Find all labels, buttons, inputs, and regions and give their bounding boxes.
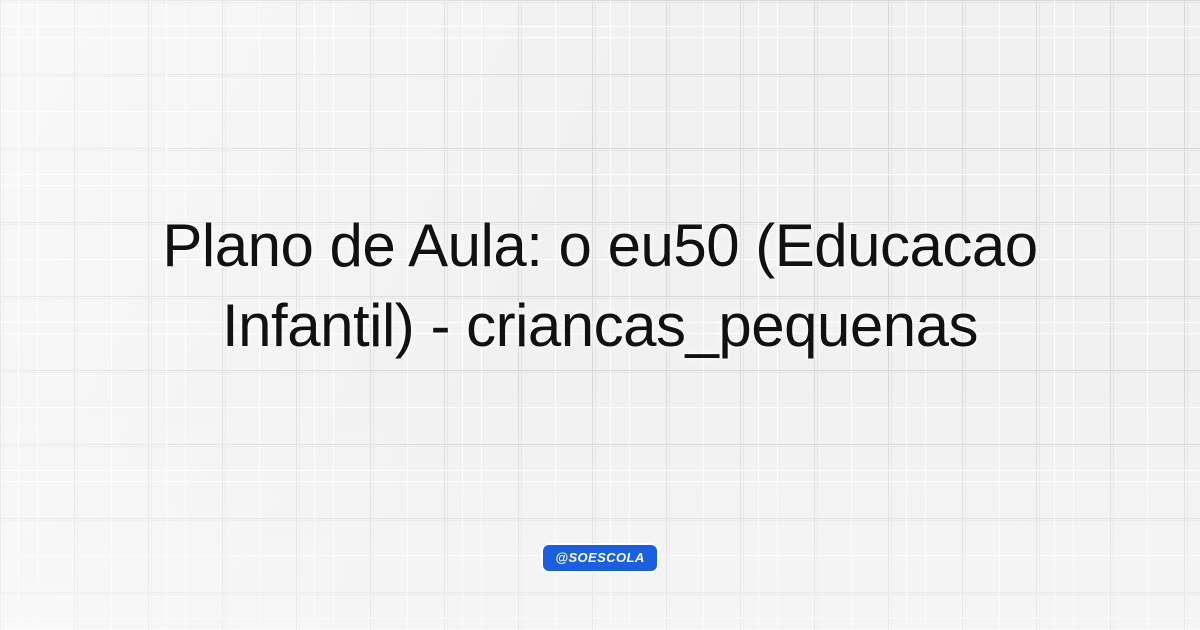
page-title: Plano de Aula: o eu50 (Educacao Infantil… xyxy=(70,206,1130,366)
title-block: Plano de Aula: o eu50 (Educacao Infantil… xyxy=(70,206,1130,366)
social-card: Plano de Aula: o eu50 (Educacao Infantil… xyxy=(0,0,1200,630)
brand-badge-row: @SOESCOLA xyxy=(0,545,1200,571)
brand-badge: @SOESCOLA xyxy=(543,545,656,571)
